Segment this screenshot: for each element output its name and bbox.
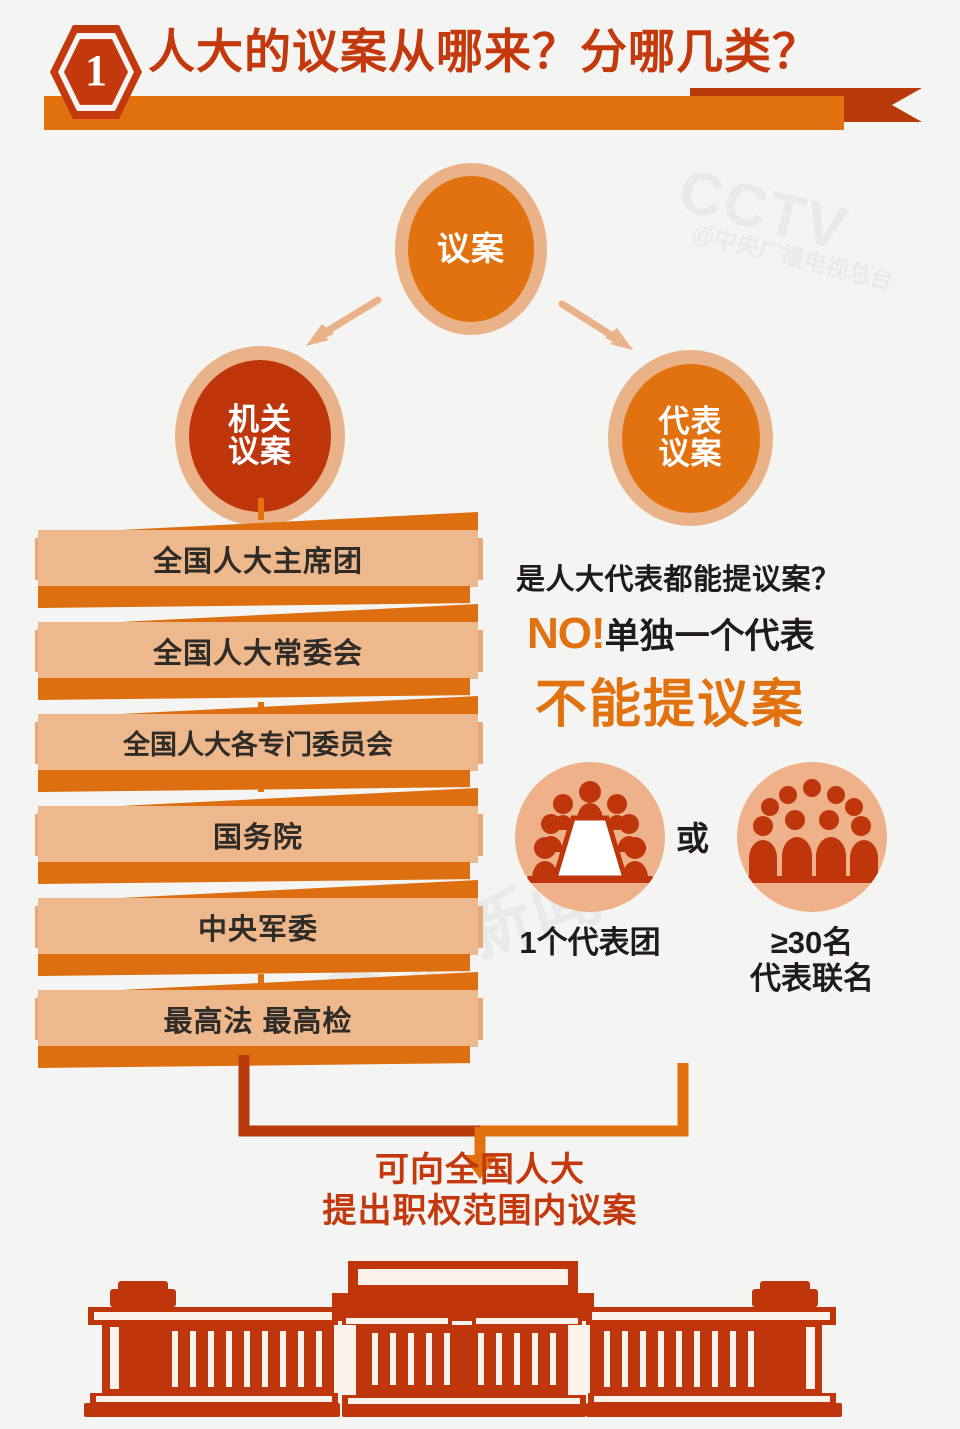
list-item: 国务院 xyxy=(38,788,478,878)
step-badge: 1 xyxy=(50,22,142,122)
deputy-answer-rest: 单独一个代表 xyxy=(605,617,815,656)
list-item-plate: 全国人大常委会 xyxy=(38,622,478,679)
list-item-label: 最高法 最高检 xyxy=(163,998,352,1040)
tick-right xyxy=(478,814,483,856)
deputy-answer-big: 不能提议案 xyxy=(535,662,805,737)
node-proposal: 议案 xyxy=(395,163,547,335)
option-conjunction: 或 xyxy=(676,812,709,860)
list-item-label: 全国人大主席团 xyxy=(153,538,363,580)
deputy-answer-no: NO! xyxy=(527,609,605,658)
option-crowd-caption: ≥30名 代表联名 xyxy=(727,925,897,997)
tick-right xyxy=(478,630,483,672)
bottom-caption-1: 可向全国人大 xyxy=(0,1150,960,1191)
list-item-label: 中央军委 xyxy=(198,906,318,948)
option-delegation-caption: 1个代表团 xyxy=(515,925,665,961)
node-agency-label-2: 议案 xyxy=(228,436,292,468)
arrow-to-deputy-icon xyxy=(562,304,633,350)
node-proposal-label: 议案 xyxy=(437,232,505,266)
ribbon-bar xyxy=(44,96,844,130)
list-item: 全国人大主席团 xyxy=(38,512,478,602)
node-proposal-core: 议案 xyxy=(408,176,534,322)
agency-list: 全国人大主席团 全国人大常委会 全国人大各专门委员会 国务院 xyxy=(38,512,478,1062)
deputy-answer-line: NO!单独一个代表 xyxy=(527,608,815,659)
arrow-to-agency-icon xyxy=(306,300,378,346)
bottom-caption-2: 提出职权范围内议案 xyxy=(0,1191,960,1232)
option-crowd-caption-1: ≥30名 xyxy=(727,925,897,961)
option-crowd-circle xyxy=(737,762,887,912)
page-title: 人大的议案从哪来？分哪几类？ xyxy=(148,28,820,75)
node-agency-core: 机关 议案 xyxy=(189,360,331,512)
list-item: 全国人大各专门委员会 xyxy=(38,696,478,786)
step-number: 1 xyxy=(50,22,142,122)
tick-right xyxy=(478,998,483,1040)
list-item-plate: 中央军委 xyxy=(38,898,478,955)
list-item: 全国人大常委会 xyxy=(38,604,478,694)
delegation-table-icon xyxy=(515,762,665,912)
node-deputy-core: 代表 议案 xyxy=(622,364,760,513)
option-delegation-circle xyxy=(515,762,665,912)
tick-right xyxy=(478,906,483,948)
list-item: 最高法 最高检 xyxy=(38,972,478,1062)
node-deputy-proposal: 代表 议案 xyxy=(608,350,773,526)
watermark-brand-sub: @中央广播电视总台 xyxy=(689,214,898,297)
deputy-question: 是人大代表都能提议案？ xyxy=(516,556,841,598)
tick-right xyxy=(478,538,483,580)
list-item-label: 国务院 xyxy=(213,814,303,856)
node-agency-label-1: 机关 xyxy=(228,404,292,436)
list-item-plate: 国务院 xyxy=(38,806,478,863)
list-item-plate: 全国人大主席团 xyxy=(38,530,478,587)
bottom-caption: 可向全国人大 提出职权范围内议案 xyxy=(0,1150,960,1232)
node-deputy-label-1: 代表 xyxy=(659,406,723,438)
list-item-plate: 全国人大各专门委员会 xyxy=(38,714,478,771)
watermark-brand: CCTV xyxy=(672,155,855,263)
great-hall-of-people-icon xyxy=(80,1255,880,1425)
tick-right xyxy=(478,722,483,764)
list-item-label: 全国人大各专门委员会 xyxy=(123,723,393,762)
option-crowd-caption-2: 代表联名 xyxy=(727,961,897,997)
list-item: 中央军委 xyxy=(38,880,478,970)
node-deputy-label-2: 议案 xyxy=(659,438,723,470)
list-item-label: 全国人大常委会 xyxy=(153,630,363,672)
crowd-people-icon xyxy=(737,762,887,912)
infographic-root: CCTV @中央广播电视总台 央视新闻 微博 1 人大的议案从哪来？分哪几类？ … xyxy=(0,0,960,1429)
list-item-plate: 最高法 最高检 xyxy=(38,990,478,1047)
